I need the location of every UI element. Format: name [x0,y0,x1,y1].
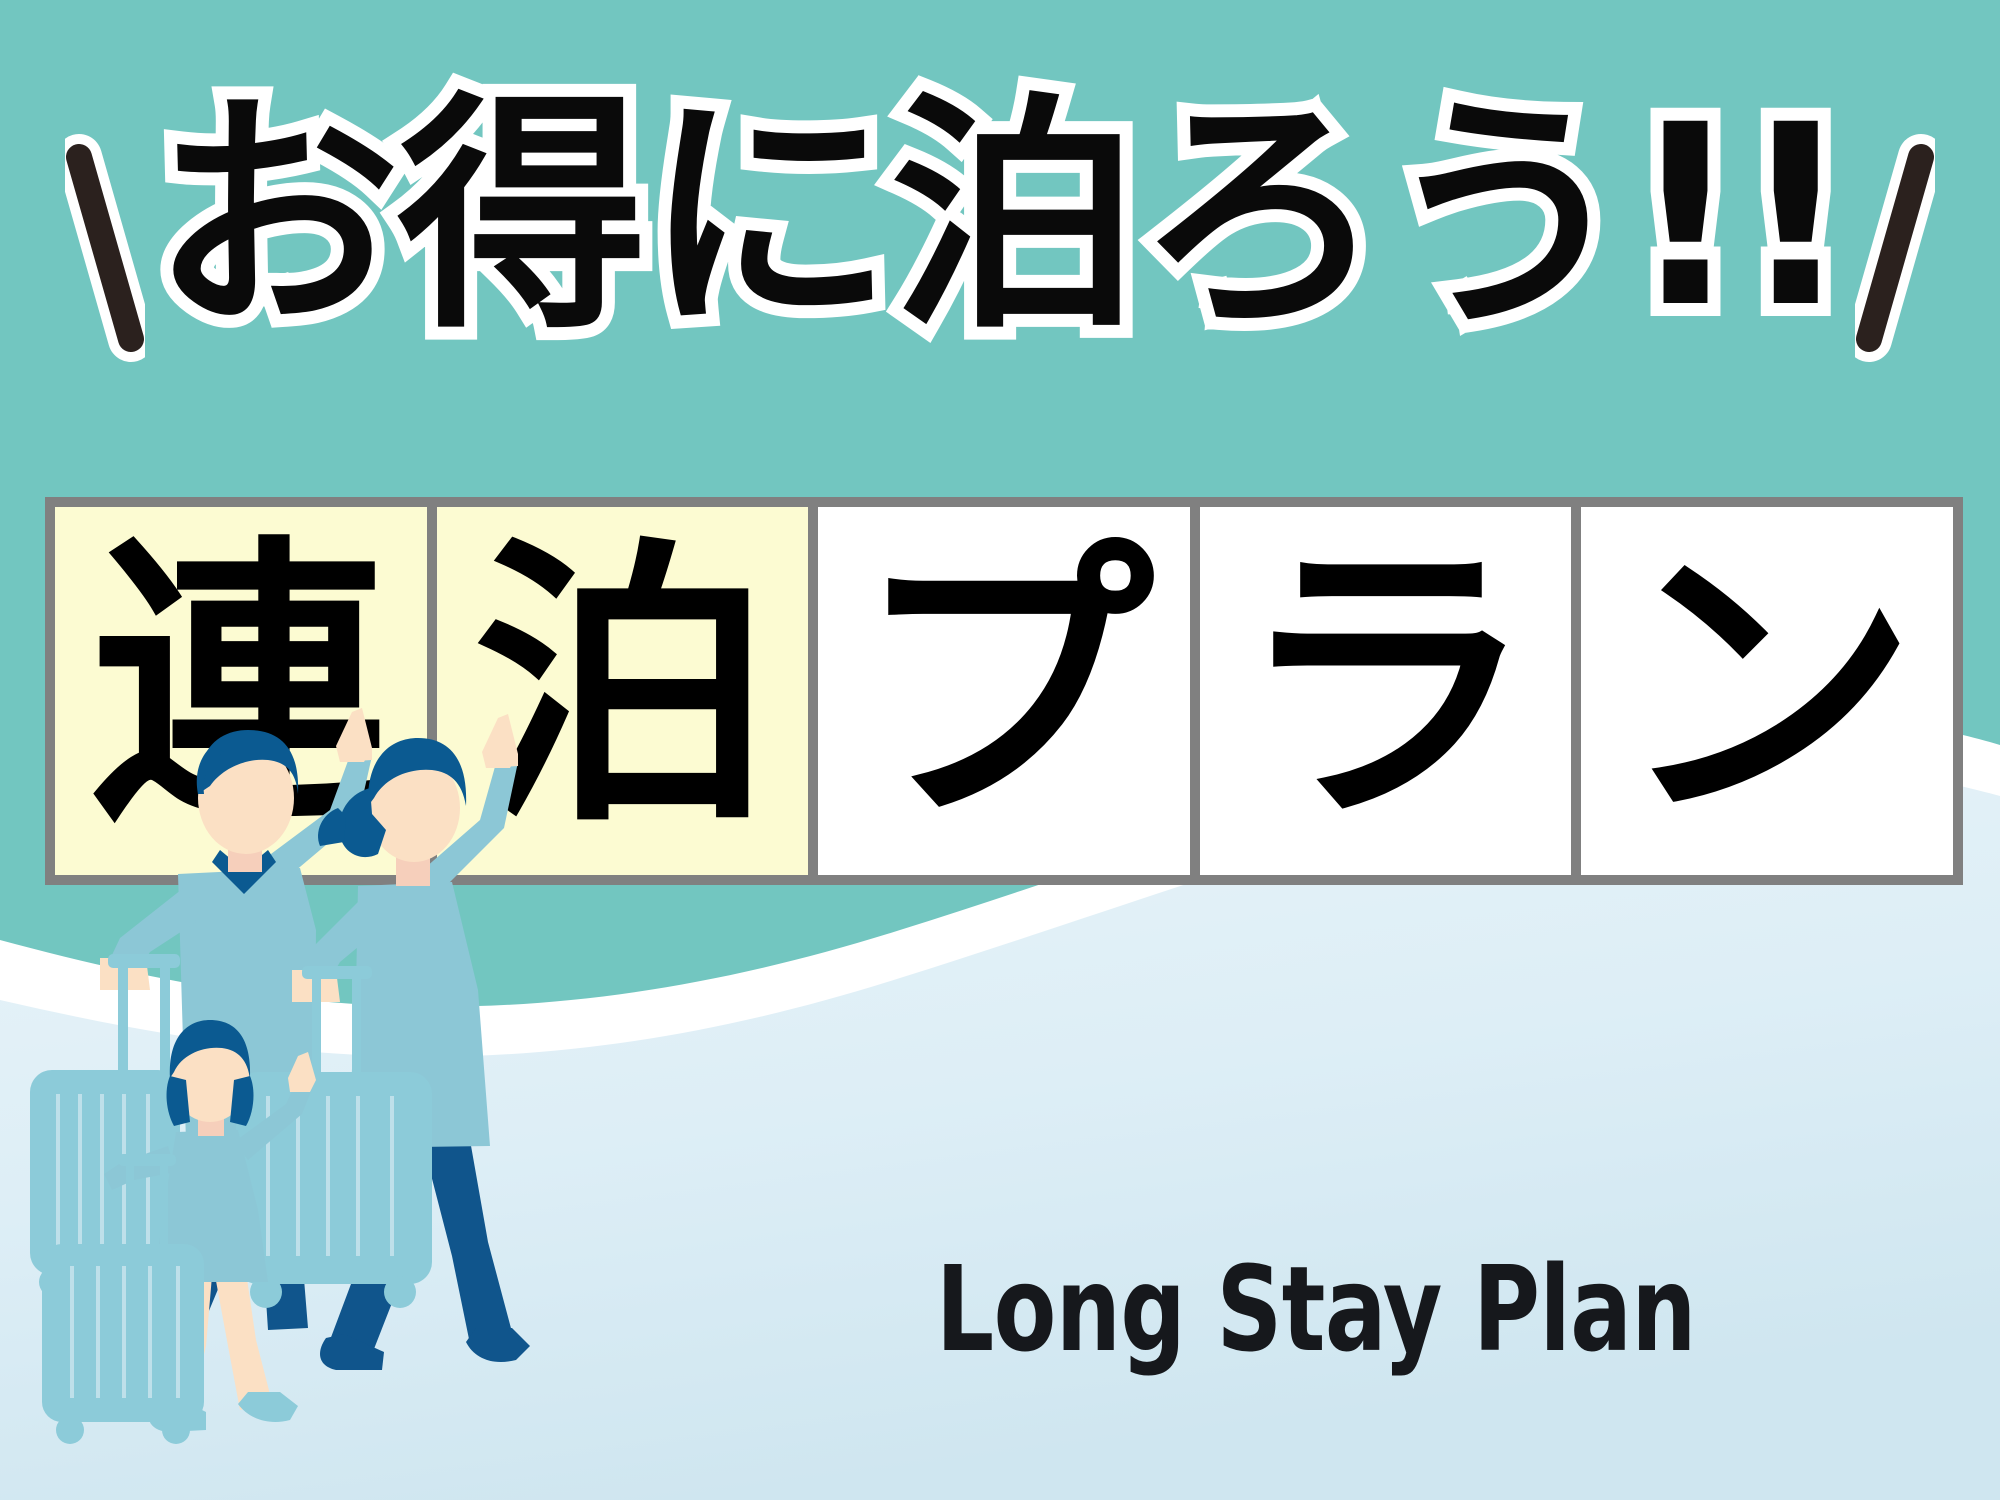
headline-row: お得に泊ろう!! [0,62,2000,372]
kanji-glyph: ン [1617,550,1917,826]
kanji-cell-5: ン [1581,507,1953,875]
headline-text: お得に泊ろう!! [151,92,1849,342]
promotional-banner: お得に泊ろう!! 連 泊 プ ラ ン Long Stay Plan [0,0,2000,1500]
kanji-cell-3: プ [818,507,1190,875]
kanji-cell-4: ラ [1200,507,1572,875]
kanji-glyph: プ [854,550,1154,826]
mother-pointing-hand [482,714,518,768]
slash-left-icon [65,131,145,366]
father-pointing-hand [336,708,372,762]
family-illustration [0,690,760,1500]
kanji-glyph: ラ [1236,550,1536,826]
slash-right-icon [1855,131,1935,366]
english-caption: Long Stay Plan [936,1250,1696,1368]
